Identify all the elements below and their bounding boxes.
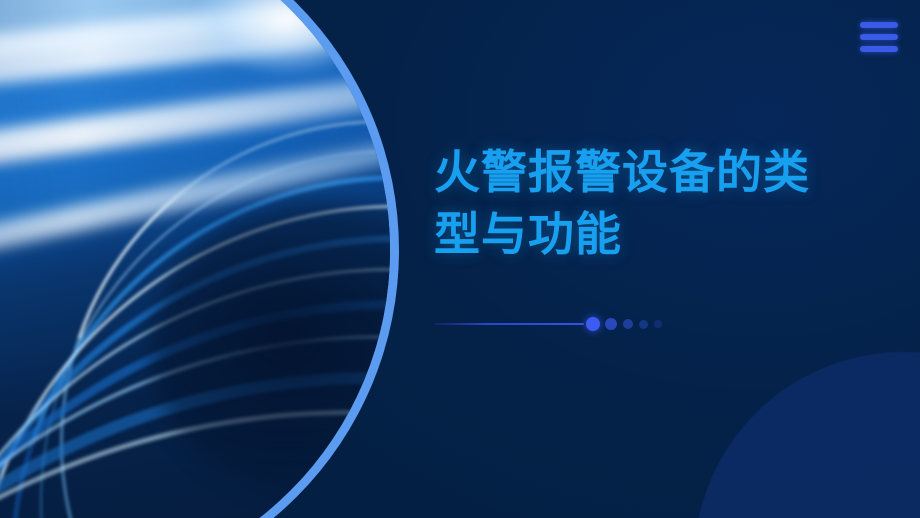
divider-line: [434, 323, 584, 325]
hamburger-menu-icon[interactable]: [860, 22, 898, 52]
divider-dot: [586, 317, 600, 331]
title-divider: [434, 316, 666, 332]
slide-title-line-1: 火警报警设备的类: [434, 141, 854, 203]
divider-dot: [605, 318, 617, 330]
slide-title: 火警报警设备的类 型与功能: [434, 141, 854, 265]
hamburger-bar-bottom: [860, 46, 898, 52]
presentation-slide: 火警报警设备的类 型与功能: [0, 0, 920, 518]
corner-circle-decoration: [694, 352, 920, 518]
divider-dot: [639, 320, 648, 329]
hamburger-bar-middle: [860, 34, 898, 40]
divider-dots: [586, 317, 662, 331]
hamburger-bar-top: [860, 22, 898, 28]
swirl-artwork: [0, 0, 390, 518]
divider-dot: [623, 319, 633, 329]
swirl-image-circle: [0, 0, 390, 518]
slide-title-line-2: 型与功能: [434, 203, 854, 265]
divider-dot: [654, 320, 662, 328]
